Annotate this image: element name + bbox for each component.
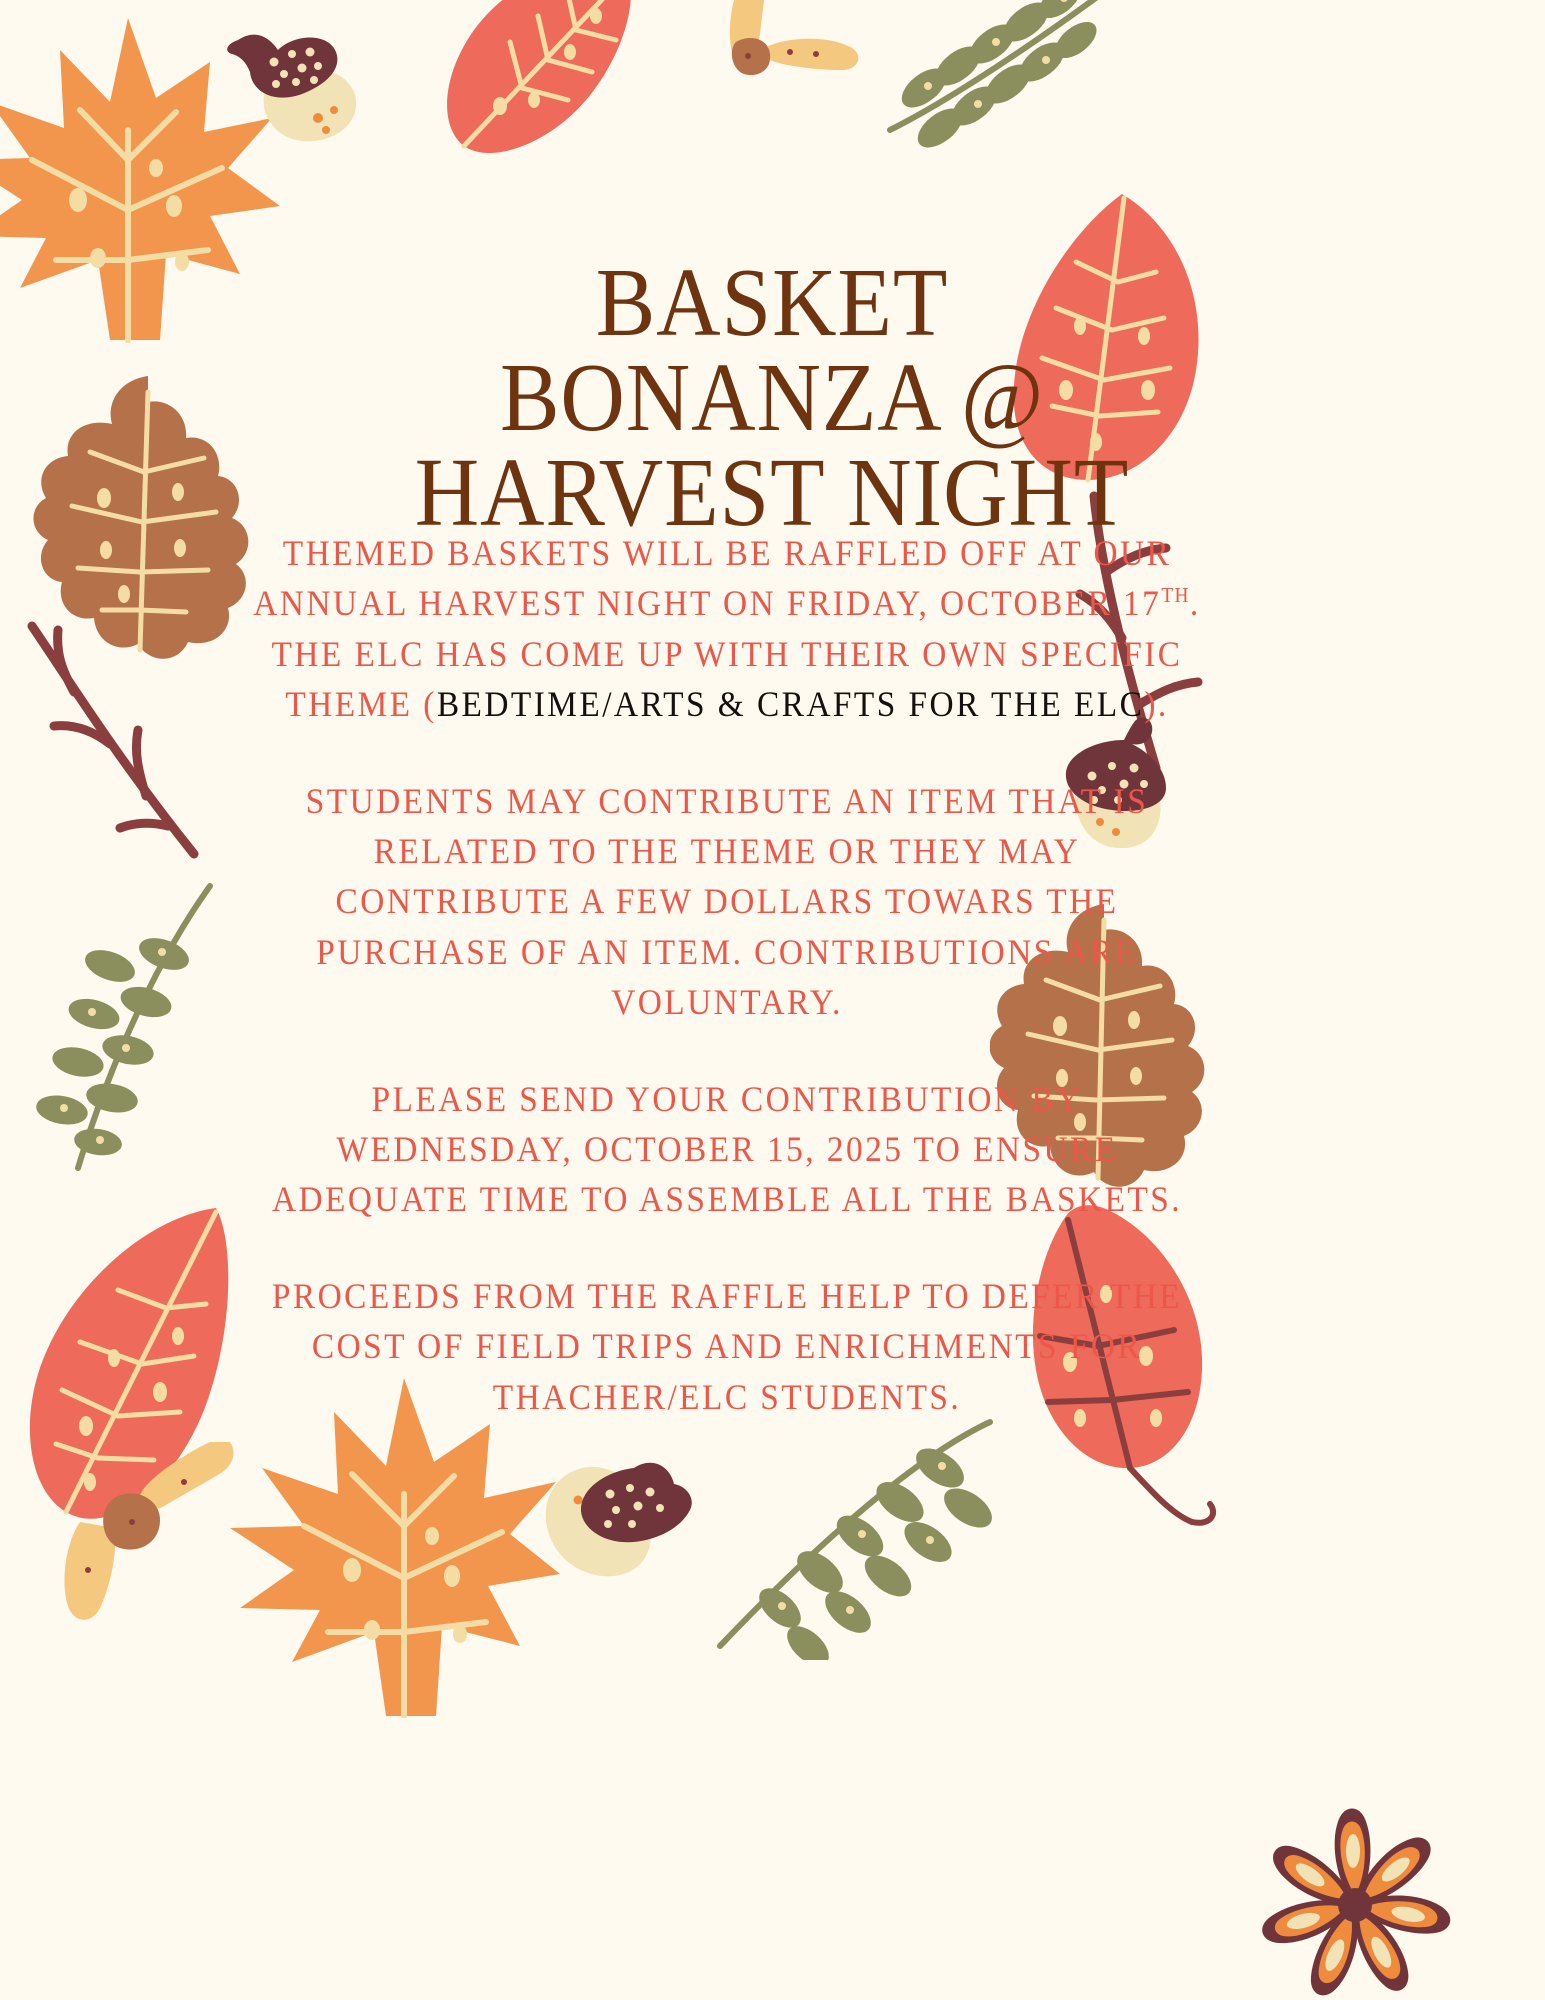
paragraph-proceeds: PROCEEDS FROM THE RAFFLE HELP TO DEFER T… [252,1271,1201,1422]
title-line-2: BONANZA @ [312,350,1232,445]
page-title: BASKET BONANZA @ HARVEST NIGHT [312,255,1232,540]
paragraph-raffle-info: THEMED BASKETS WILL BE RAFFLED OFF AT OU… [252,528,1201,730]
ordinal-suffix: TH [1161,586,1190,608]
title-line-3: HARVEST NIGHT [312,445,1232,540]
paren-close: ). [1144,684,1168,724]
body-text-block: THEMED BASKETS WILL BE RAFFLED OFF AT OU… [222,528,1232,1422]
poster-canvas: BASKET BONANZA @ HARVEST NIGHT THEMED BA… [0,0,1545,2000]
paragraph-contribution: STUDENTS MAY CONTRIBUTE AN ITEM THAT IS … [252,776,1201,1028]
paragraph-deadline: PLEASE SEND YOUR CONTRIBUTION BY WEDNESD… [252,1074,1201,1225]
theme-detail-text: BEDTIME/ARTS & CRAFTS FOR THE ELC [437,684,1144,724]
poster-content: BASKET BONANZA @ HARVEST NIGHT THEMED BA… [0,0,1545,2000]
p1-text-before-ordinal: THEMED BASKETS WILL BE RAFFLED OFF AT OU… [253,533,1171,623]
paren-open: ( [423,684,437,724]
title-line-1: BASKET [312,255,1232,350]
